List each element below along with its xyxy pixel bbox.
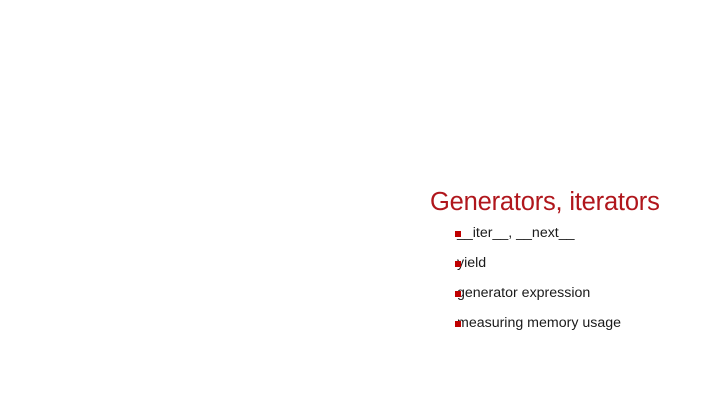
list-item-label: yield (457, 256, 486, 270)
list-item: measuring memory usage (430, 309, 716, 339)
page-title: Generators, iterators (430, 188, 716, 217)
square-bullet-icon (455, 291, 461, 297)
slide-content-block: Generators, iterators __iter__, __next__… (430, 188, 716, 339)
list-item: yield (430, 249, 716, 279)
list-item-label: measuring memory usage (457, 316, 621, 330)
square-bullet-icon (455, 231, 461, 237)
square-bullet-icon (455, 321, 461, 327)
square-bullet-icon (455, 261, 461, 267)
list-item: __iter__, __next__ (430, 219, 716, 249)
presentation-slide: Generators, iterators __iter__, __next__… (0, 0, 720, 405)
list-item-label: __iter__, __next__ (457, 226, 575, 240)
list-item: generator expression (430, 279, 716, 309)
bullet-list: __iter__, __next__ yield generator expre… (430, 219, 716, 339)
list-item-label: generator expression (457, 286, 590, 300)
